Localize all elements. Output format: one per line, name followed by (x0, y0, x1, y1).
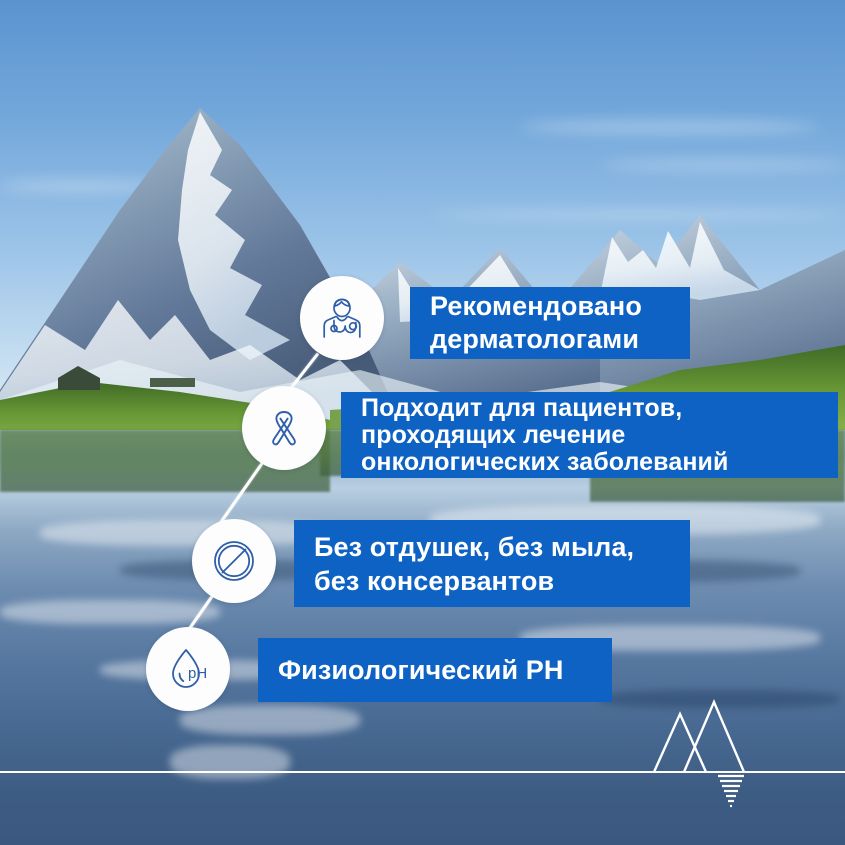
callout-text: Физиологический РН (278, 655, 564, 685)
reflection-streak (0, 600, 220, 624)
callout-dermatologists: Рекомендовано дерматологами (410, 287, 690, 359)
ph-label: pH (188, 665, 207, 682)
callout-no-additives: Без отдушек, без мыла, без консервантов (294, 520, 690, 607)
logo-peak-left (654, 714, 706, 772)
callout-oncology-patients: Подходит для пациентов, проходящих лечен… (341, 392, 838, 478)
reflection-streak (180, 705, 360, 735)
callout-text: Без отдушек, без мыла, без консервантов (314, 530, 634, 598)
doctor-stethoscope-icon (316, 292, 368, 344)
shoreline-structure (150, 378, 195, 387)
badge-dermatologists[interactable] (300, 276, 384, 360)
mountain-reflection-logo (632, 690, 772, 810)
prohibition-circle-icon (207, 534, 261, 588)
logo-reflection-stripes (718, 776, 744, 806)
logo-peak-right (684, 702, 744, 772)
badge-physiological-ph[interactable]: pH (146, 627, 230, 711)
reflection-streak (170, 745, 290, 779)
callout-text: Рекомендовано дерматологами (430, 290, 642, 356)
callout-physiological-ph: Физиологический РН (258, 638, 612, 702)
badge-no-additives[interactable] (192, 519, 276, 603)
promo-poster: Рекомендовано дерматологами Подходит для… (0, 0, 845, 845)
callout-text: Подходит для пациентов, проходящих лечен… (361, 395, 728, 476)
badge-oncology-patients[interactable] (242, 386, 326, 470)
water-drop-ph-icon: pH (161, 642, 215, 696)
awareness-ribbon-icon (258, 402, 310, 454)
